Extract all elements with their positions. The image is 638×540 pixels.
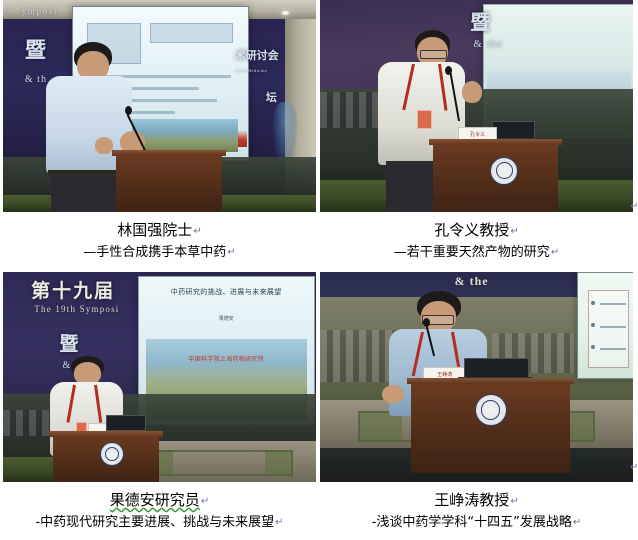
projection-screen: [577, 272, 633, 379]
caption-block-4: 王峥涛教授↵ -浅谈中药学学科“十四五”发展战略↵: [320, 482, 633, 533]
talk-topic-text: —若干重要天然产物的研究: [394, 245, 550, 260]
banner-chinese-mid: 暨: [59, 329, 78, 356]
speaker-name-text: 果德安研究员: [110, 491, 200, 509]
podium: [411, 381, 571, 473]
conference-photo-wang-zhengtao[interactable]: & the 王峥涛: [320, 272, 633, 482]
speaker-badge: [417, 110, 432, 129]
ceiling-light-icon: [282, 11, 289, 15]
podium-top-edge: [112, 150, 226, 156]
speaker-name-3: 果德安研究员↵: [3, 482, 316, 513]
podium: [53, 434, 159, 482]
paragraph-mark-icon: ↵: [200, 496, 209, 507]
document-page: ymposi 暨 & th 术研讨会 ional Medicine 坛: [0, 0, 638, 540]
talk-topic-text: —手性合成携手本草中药: [83, 245, 226, 260]
speaker-name-1: 林国强院士↵: [3, 212, 316, 243]
podium: [433, 142, 558, 212]
slide-bullet-line: [600, 348, 626, 350]
speaker-hand: [462, 81, 482, 103]
row-paragraph-mark-icon: ↵: [630, 462, 638, 473]
name-plate-text: 孔令义: [459, 131, 497, 138]
speaker-glasses-icon: [420, 50, 447, 59]
podium-top-edge: [407, 378, 575, 384]
photo-caption-block-2: 暨 & the: [320, 0, 633, 263]
microphone-head: [445, 66, 452, 75]
photo-caption-block-4: & the 王峥涛: [320, 272, 633, 533]
caption-block-3: 果德安研究员↵ -中药现代研究主要进展、挑战与未来展望↵: [3, 482, 316, 533]
speaker-belt: [48, 170, 123, 174]
caption-block-2: 孔令义教授↵ —若干重要天然产物的研究↵: [320, 212, 633, 263]
speaker-name-text: 孔令义教授: [434, 221, 509, 239]
paragraph-mark-icon: ↵: [274, 517, 283, 528]
conference-photo-guo-dean[interactable]: 中药研究的挑战、进展与未来展望 果德安 中国科学院上海药物研究所 第十九届 Th…: [3, 272, 316, 482]
talk-topic-2: —若干重要天然产物的研究↵: [320, 243, 633, 263]
university-seal-icon: [475, 394, 507, 426]
photo-caption-block-1: ymposi 暨 & th 术研讨会 ional Medicine 坛: [3, 0, 316, 263]
banner-chinese-big: 第十九届: [31, 276, 115, 303]
row-paragraph-mark-icon: ↵: [630, 201, 638, 212]
university-seal-icon: [100, 442, 124, 466]
podium: [116, 153, 222, 212]
microphone-head: [125, 106, 132, 115]
speaker-hand: [95, 137, 114, 154]
banner-english-top: The 19th Symposi: [34, 304, 119, 314]
caption-block-1: 林国强院士↵ —手性合成携手本草中药↵: [3, 212, 316, 263]
slide-block: [150, 23, 233, 43]
paragraph-mark-icon: ↵: [572, 517, 581, 528]
talk-topic-text: -浅谈中药学学科“十四五”发展战略: [372, 515, 572, 530]
slide-title: 中药研究的挑战、进展与未来展望: [139, 287, 314, 297]
talk-topic-text: -中药现代研究主要进展、挑战与未来展望: [35, 515, 274, 530]
conference-photo-kong-lingyi[interactable]: 暨 & the: [320, 0, 633, 212]
photo-caption-grid: ymposi 暨 & th 术研讨会 ional Medicine 坛: [0, 0, 638, 540]
slide-author: 果德安: [139, 315, 314, 322]
talk-topic-1: —手性合成携手本草中药↵: [3, 243, 316, 263]
paragraph-mark-icon: ↵: [509, 496, 518, 507]
banner-english-top: ymposi: [22, 6, 58, 16]
paragraph-mark-icon: ↵: [509, 226, 518, 237]
slide-bullet-line: [600, 303, 626, 305]
speaker-trousers: [51, 175, 120, 212]
laptop-screen: [106, 415, 146, 432]
paragraph-mark-icon: ↵: [226, 247, 235, 258]
speaker-name-text: 王峥涛教授: [434, 491, 509, 509]
university-seal-icon: [490, 157, 518, 185]
speaker-name-2: 孔令义教授↵: [320, 212, 633, 243]
slide-bullet-line: [600, 326, 626, 328]
speaker-name-text: 林国强院士: [117, 221, 192, 239]
slide-affiliation: 中国科学院上海药物研究所: [139, 354, 314, 363]
banner-chinese-right-1: 术研讨会: [235, 47, 279, 63]
banner-english-right: ional Medicine: [235, 68, 268, 73]
banner-chinese-right-2: 坛: [266, 89, 277, 105]
table-flag: [238, 131, 247, 147]
talk-topic-4: -浅谈中药学学科“十四五”发展战略↵: [320, 513, 633, 533]
paragraph-mark-icon: ↵: [550, 247, 559, 258]
paragraph-mark-icon: ↵: [192, 226, 201, 237]
photo-caption-block-3: 中药研究的挑战、进展与未来展望 果德安 中国科学院上海药物研究所 第十九届 Th…: [3, 272, 316, 533]
banner-english-mid: & the: [455, 274, 489, 289]
talk-topic-3: -中药现代研究主要进展、挑战与未来展望↵: [3, 513, 316, 533]
speaker-hand: [382, 385, 403, 403]
podium-top-edge: [429, 139, 562, 145]
conference-photo-lin-guoqiang[interactable]: ymposi 暨 & th 术研讨会 ional Medicine 坛: [3, 0, 316, 212]
podium-top-edge: [49, 431, 163, 437]
speaker-name-4: 王峥涛教授↵: [320, 482, 633, 513]
